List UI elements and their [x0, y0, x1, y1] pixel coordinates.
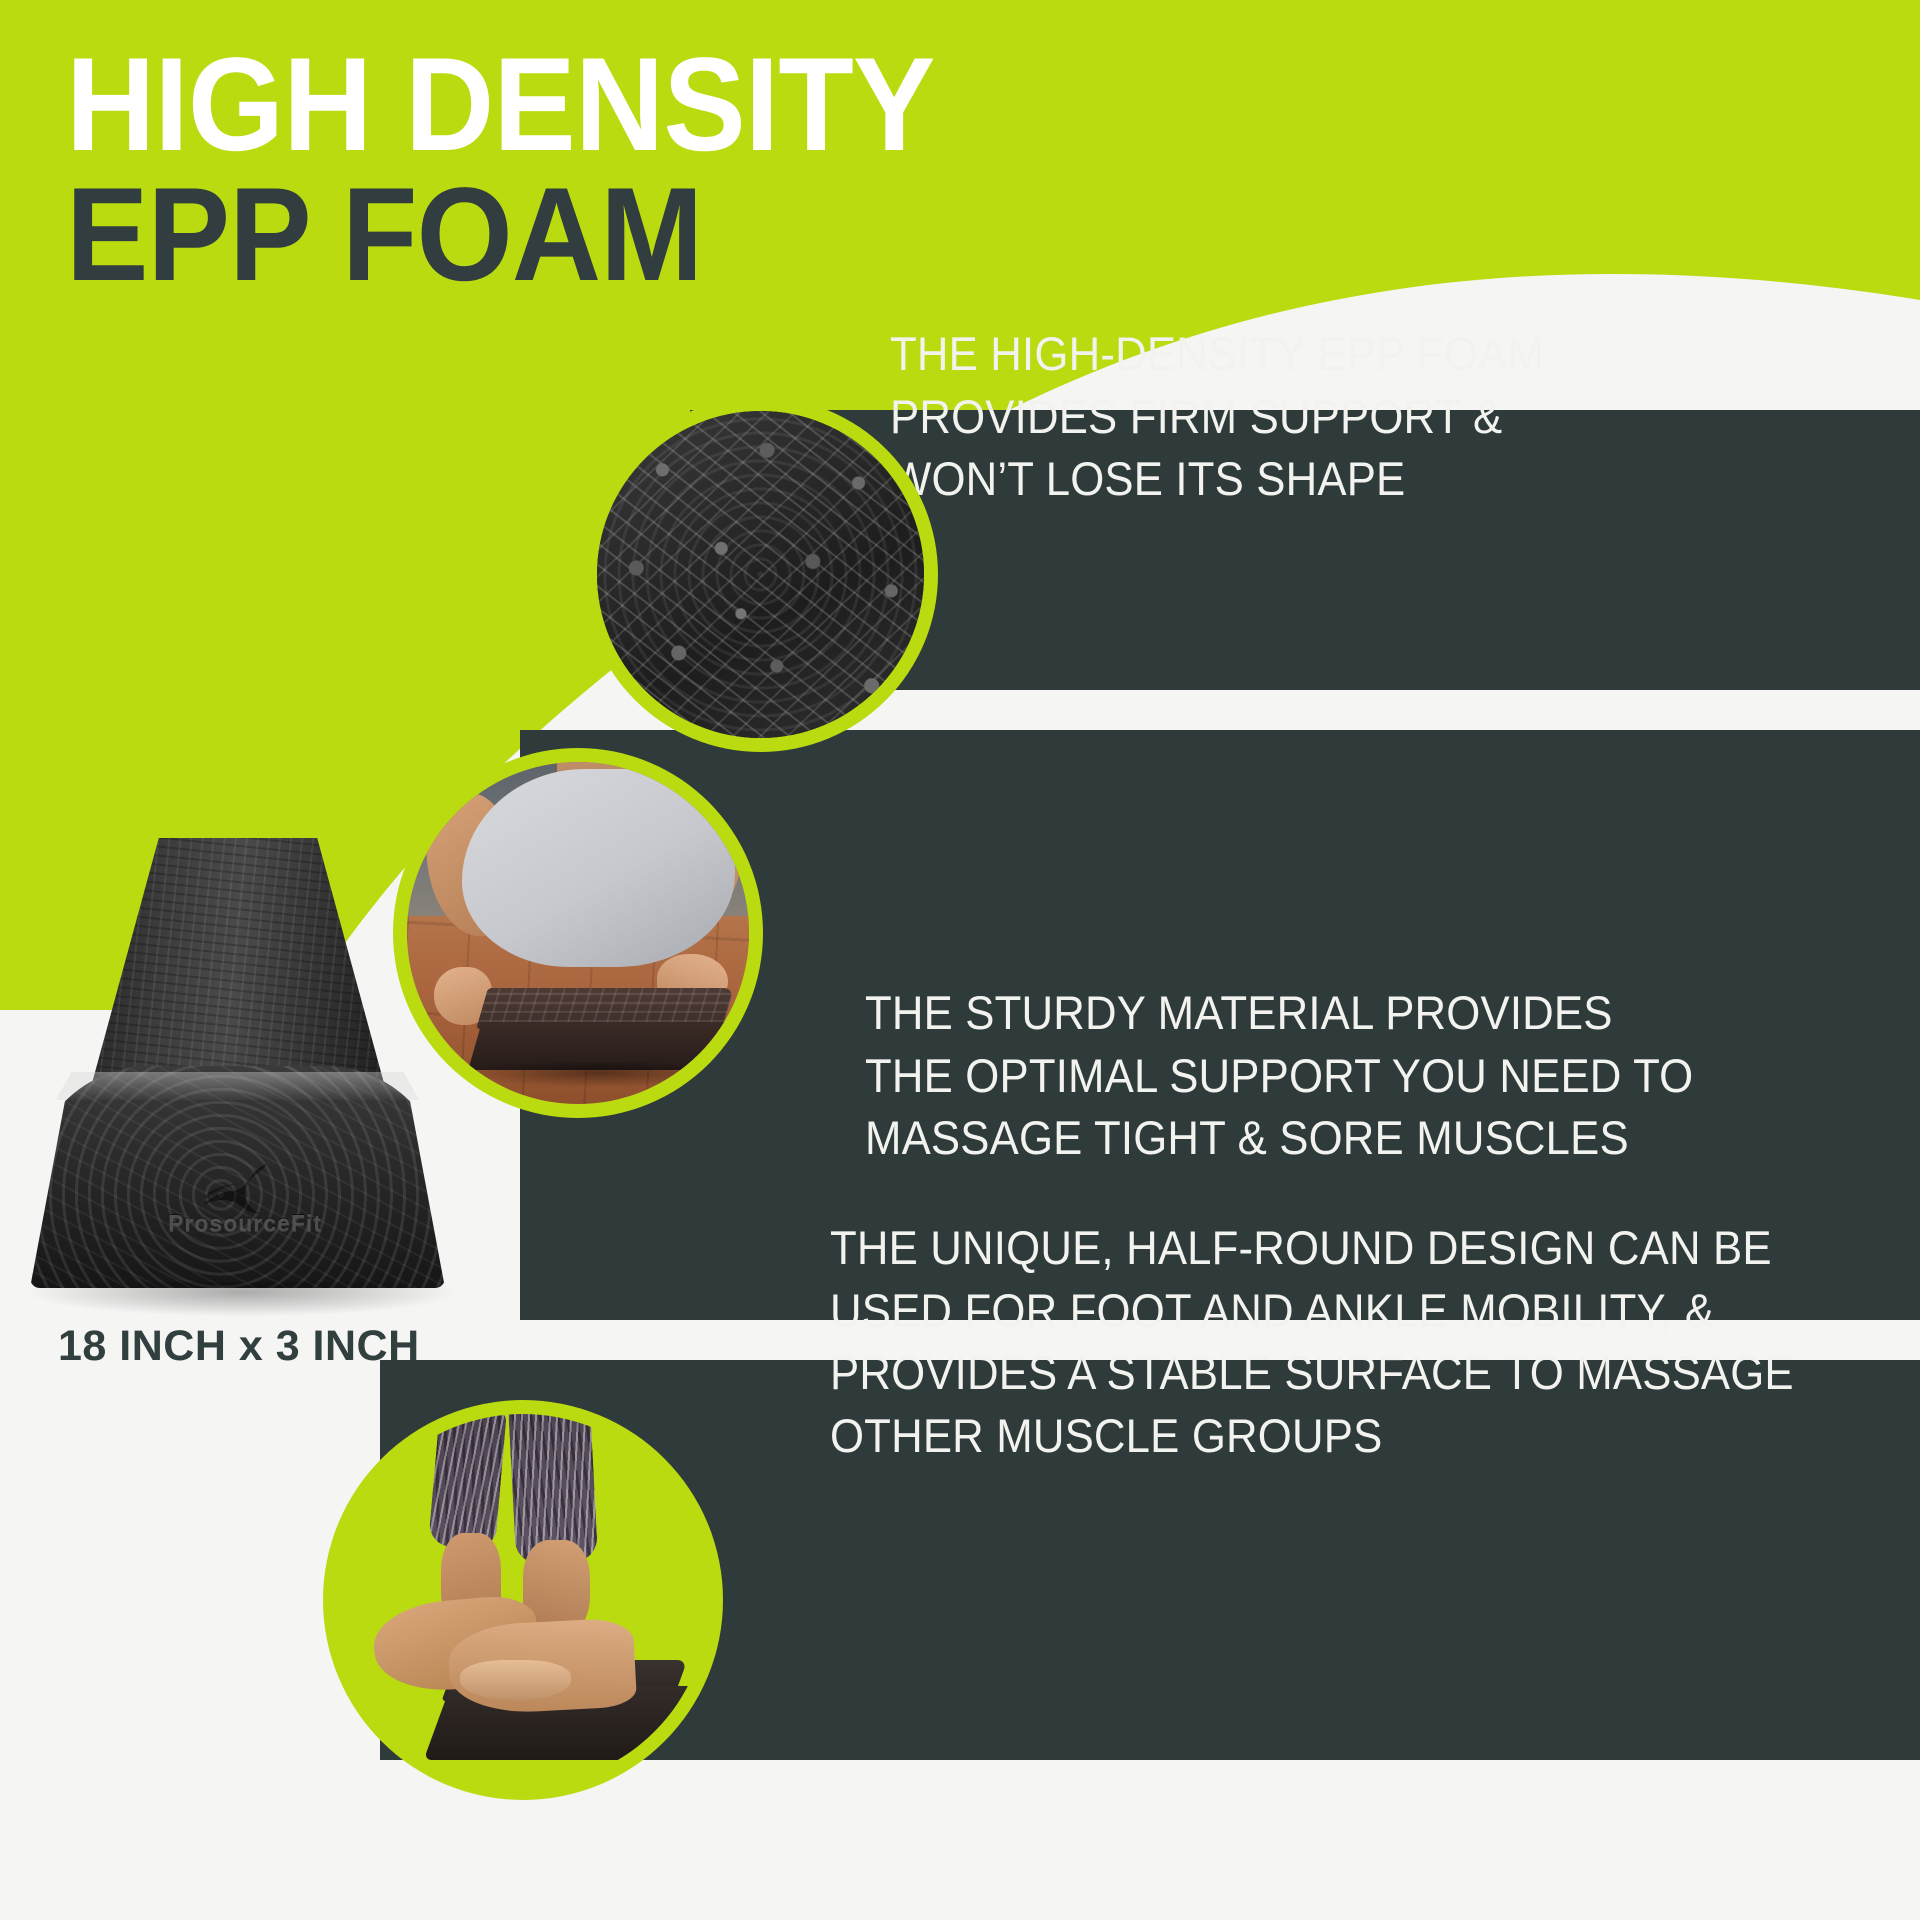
feature-panel-1-text: THE HIGH-DENSITY EPP FOAM PROVIDES FIRM … — [890, 323, 1544, 511]
page-title: HIGH DENSITY EPP FOAM — [66, 44, 1266, 297]
title-line-secondary: EPP FOAM — [66, 174, 1182, 296]
title-line-primary: HIGH DENSITY — [66, 44, 1182, 166]
feet-on-foam-roller-image — [323, 1400, 723, 1800]
circle-1-photo — [597, 411, 924, 738]
product-brand-text: ProsourceFit — [130, 1210, 360, 1237]
circle-2-photo — [407, 762, 749, 1104]
panel-1-line-3: WON’T LOSE ITS SHAPE — [890, 448, 1544, 511]
circle-3-photo — [337, 1414, 709, 1786]
plank-scene-shadow — [462, 1063, 736, 1087]
foam-cell-texture — [597, 411, 924, 738]
panel-2-line-2: THE OPTIMAL SUPPORT YOU NEED TO — [865, 1045, 1693, 1108]
plank-scene-tank-top — [462, 769, 736, 967]
panel-1-line-2: PROVIDES FIRM SUPPORT & — [890, 386, 1544, 449]
feet-scene — [337, 1414, 709, 1786]
plank-on-foam-roller-image — [393, 748, 763, 1118]
feature-panel-2-text: THE STURDY MATERIAL PROVIDES THE OPTIMAL… — [865, 982, 1693, 1170]
foam-texture-closeup-image — [583, 397, 938, 752]
panel-3-line-1: THE UNIQUE, HALF-ROUND DESIGN CAN BE — [830, 1217, 1794, 1280]
panel-3-line-3: PROVIDES A STABLE SURFACE TO MASSAGE — [830, 1342, 1794, 1405]
panel-3-line-2: USED FOR FOOT AND ANKLE MOBILITY, & — [830, 1280, 1794, 1343]
feature-panel-3-text: THE UNIQUE, HALF-ROUND DESIGN CAN BE USE… — [830, 1217, 1794, 1467]
panel-3-line-4: OTHER MUSCLE GROUPS — [830, 1405, 1794, 1468]
feet-scene-toes — [460, 1660, 572, 1701]
panel-2-line-3: MASSAGE TIGHT & SORE MUSCLES — [865, 1107, 1693, 1170]
plank-scene — [407, 762, 749, 1104]
panel-1-line-1: THE HIGH-DENSITY EPP FOAM — [890, 323, 1544, 386]
panel-2-line-1: THE STURDY MATERIAL PROVIDES — [865, 982, 1693, 1045]
feet-scene-left-legging — [428, 1414, 507, 1551]
product-drop-shadow — [30, 1282, 455, 1316]
product-dimension-label: 18 INCH x 3 INCH — [58, 1322, 420, 1371]
